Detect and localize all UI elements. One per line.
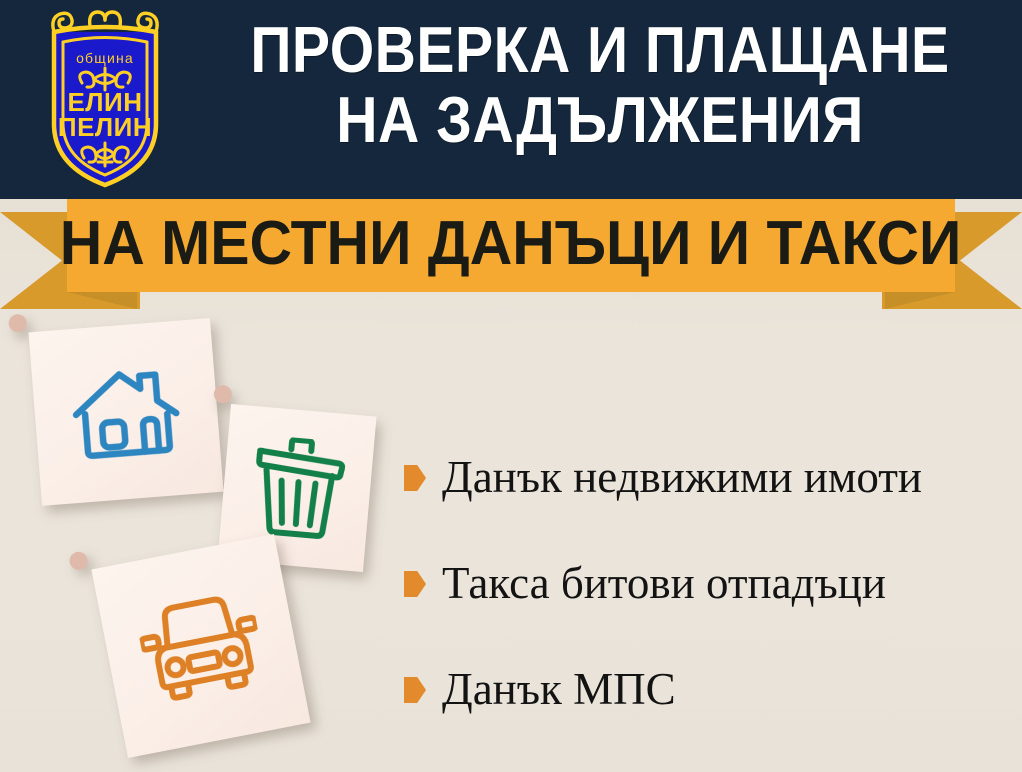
list-item[interactable]: Такса битови отпадъци: [404, 530, 1014, 636]
list-item[interactable]: Данък МПС: [404, 636, 1014, 742]
page-title-line-2: НА ЗАДЪЛЖЕНИЯ: [230, 88, 969, 152]
shield-icon: община ЕЛИН ПЕЛИН: [34, 6, 176, 191]
subtitle-ribbon: НА МЕСТНИ ДАНЪЦИ И ТАКСИ: [0, 199, 1022, 309]
poster-canvas: община ЕЛИН ПЕЛИН ПРОВЕРКА И ПЛАЩАНЕ: [0, 0, 1022, 772]
stamp-paper: [28, 318, 223, 506]
tax-item-label: Данък МПС: [442, 667, 676, 712]
house-icon: [66, 359, 185, 465]
coat-of-arms-logo: община ЕЛИН ПЕЛИН: [34, 6, 176, 191]
stamp-car: [68, 511, 334, 772]
bullet-arrow-icon: [404, 465, 426, 491]
page-title: ПРОВЕРКА И ПЛАЩАНЕ НА ЗАДЪЛЖЕНИЯ: [180, 18, 1020, 151]
bullet-arrow-icon: [404, 677, 426, 703]
page-title-line-1: ПРОВЕРКА И ПЛАЩАНЕ: [230, 18, 969, 82]
ribbon-label: НА МЕСТНИ ДАНЪЦИ И ТАКСИ: [60, 213, 962, 279]
coat-of-arms-name-line-2: ПЕЛИН: [58, 112, 152, 142]
list-item[interactable]: Данък недвижими имоти: [404, 424, 1014, 530]
stamp-paper: [91, 534, 310, 758]
tax-type-list: Данък недвижими имоти Такса битови отпад…: [404, 424, 1014, 742]
bullet-arrow-icon: [404, 571, 426, 597]
ribbon-plate: НА МЕСТНИ ДАНЪЦИ И ТАКСИ: [67, 199, 955, 292]
car-icon: [133, 585, 268, 708]
tax-item-label: Данък недвижими имоти: [442, 455, 922, 500]
tax-item-label: Такса битови отпадъци: [442, 561, 886, 606]
coat-of-arms-municipality-word: община: [76, 50, 134, 66]
